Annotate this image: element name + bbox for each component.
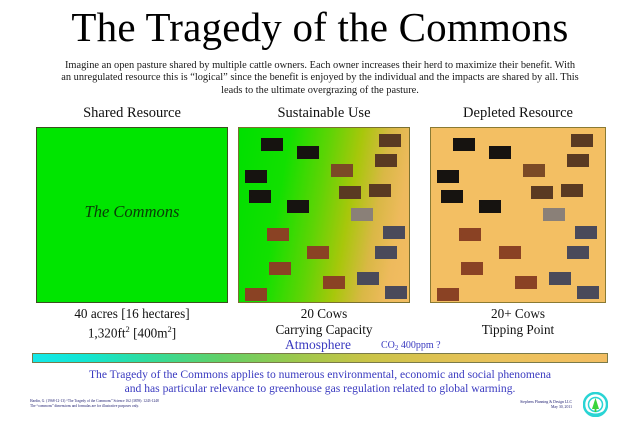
cow-icon	[357, 272, 379, 285]
cow-icon	[489, 146, 511, 159]
summary-line-2: and has particular relevance to greenhou…	[70, 382, 570, 396]
cow-icon	[461, 262, 483, 275]
summary-text: The Tragedy of the Commons applies to nu…	[70, 368, 570, 395]
cow-icon	[379, 134, 401, 147]
caption-carrying-capacity: Carrying Capacity	[238, 322, 410, 338]
cow-icon	[267, 228, 289, 241]
cow-icon	[567, 246, 589, 259]
cow-icon	[261, 138, 283, 151]
caption-cow-count-sustainable: 20 Cows	[238, 306, 410, 322]
company-logo-icon	[583, 392, 608, 417]
cow-icon	[323, 276, 345, 289]
panel-shared-resource: The Commons	[36, 127, 228, 303]
cow-icon	[575, 226, 597, 239]
cow-icon	[441, 190, 463, 203]
cow-icon	[249, 190, 271, 203]
atmosphere-gradient-bar	[32, 353, 608, 363]
atmosphere-label: Atmosphere	[258, 337, 378, 353]
column-header-depleted-resource: Depleted Resource	[430, 104, 606, 122]
citation-footnote: Hardin, G. (1968-12-13) “The Tragedy of …	[30, 399, 260, 408]
caption-area-per-cow: 1,320ft2 [400m2]	[24, 322, 240, 341]
panel-sustainable-use	[238, 127, 410, 303]
infographic-poster: The Tragedy of the Commons Imagine an op…	[0, 0, 640, 427]
cow-icon	[567, 154, 589, 167]
cow-icon	[375, 154, 397, 167]
cow-icon	[339, 186, 361, 199]
cow-icon	[307, 246, 329, 259]
intro-paragraph: Imagine an open pasture shared by multip…	[60, 60, 580, 97]
cow-icon	[437, 288, 459, 301]
cow-icon	[437, 170, 459, 183]
cow-icon	[383, 226, 405, 239]
cow-icon	[571, 134, 593, 147]
commons-label: The Commons	[37, 202, 227, 222]
cow-icon	[245, 288, 267, 301]
cow-icon	[351, 208, 373, 221]
cow-icon	[499, 246, 521, 259]
caption-cow-count-depleted: 20+ Cows	[430, 306, 606, 322]
credit-line-2: May 30, 2011	[412, 405, 572, 410]
cow-icon	[459, 228, 481, 241]
cow-icon	[479, 200, 501, 213]
caption-shared-resource: 40 acres [16 hectares] 1,320ft2 [400m2]	[24, 306, 240, 340]
cow-icon	[331, 164, 353, 177]
panel-depleted-resource	[430, 127, 606, 303]
page-title: The Tragedy of the Commons	[0, 2, 640, 52]
cow-icon	[523, 164, 545, 177]
column-header-shared-resource: Shared Resource	[36, 104, 228, 122]
credit-footnote: Stephens Planning & Design LLC May 30, 2…	[412, 400, 572, 410]
cow-icon	[269, 262, 291, 275]
column-header-sustainable-use: Sustainable Use	[238, 104, 410, 122]
caption-area-acres: 40 acres [16 hectares]	[24, 306, 240, 322]
cow-icon	[531, 186, 553, 199]
cow-icon	[453, 138, 475, 151]
cow-icon	[515, 276, 537, 289]
cow-icon	[375, 246, 397, 259]
summary-line-1: The Tragedy of the Commons applies to nu…	[70, 368, 570, 382]
cow-icon	[369, 184, 391, 197]
caption-sustainable-use: 20 Cows Carrying Capacity	[238, 306, 410, 337]
cow-icon	[561, 184, 583, 197]
caption-tipping-point: Tipping Point	[430, 322, 606, 338]
co2-concentration-label: CO2 400ppm ?	[381, 340, 441, 352]
cow-icon	[385, 286, 407, 299]
cow-icon	[287, 200, 309, 213]
citation-line-2: The “commons” dimensions and formulas ar…	[30, 404, 260, 409]
cow-icon	[543, 208, 565, 221]
caption-depleted-resource: 20+ Cows Tipping Point	[430, 306, 606, 337]
cow-icon	[245, 170, 267, 183]
cow-icon	[577, 286, 599, 299]
cow-icon	[297, 146, 319, 159]
cow-icon	[549, 272, 571, 285]
